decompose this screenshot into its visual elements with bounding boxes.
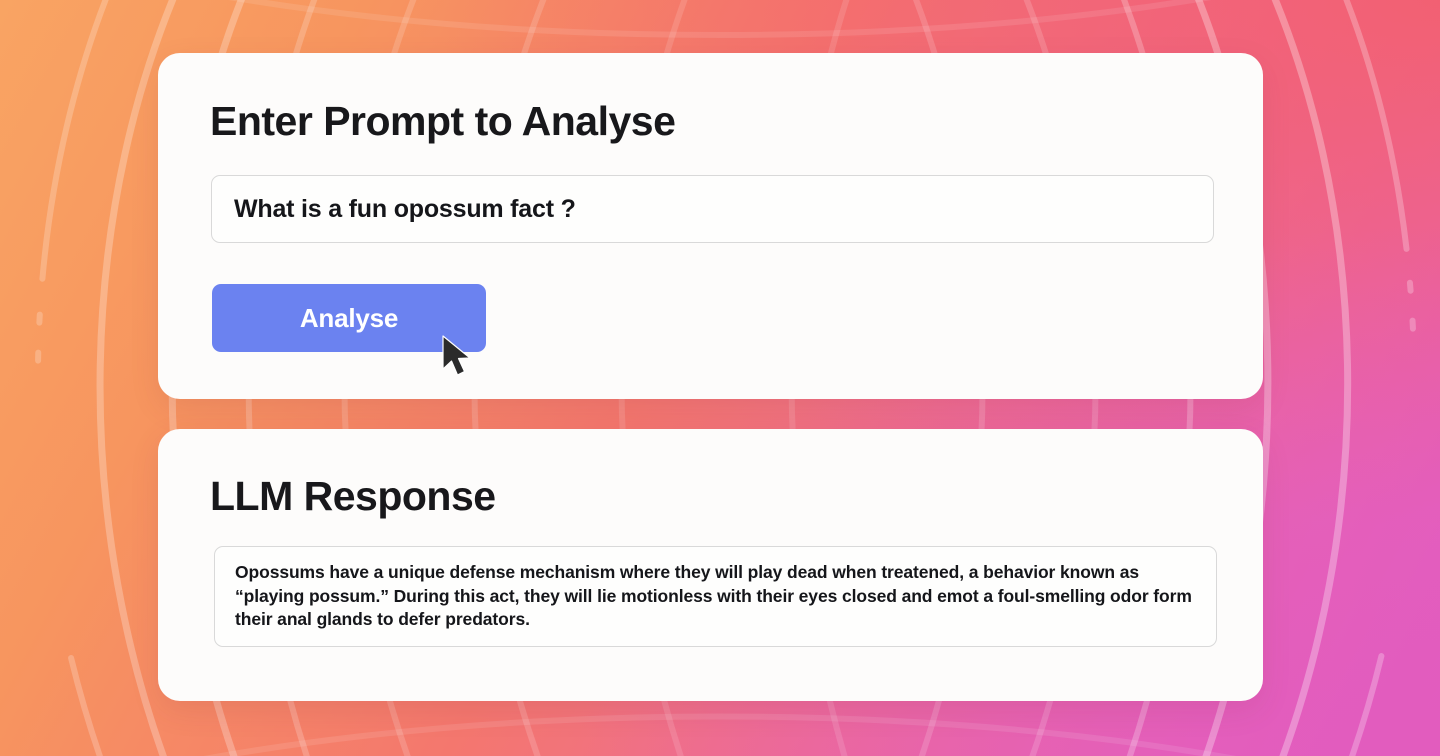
prompt-input[interactable] xyxy=(212,195,1213,224)
page-title: Enter Prompt to Analyse xyxy=(210,98,675,145)
llm-response-text: Opossums have a unique defense mechanism… xyxy=(235,561,1196,632)
llm-response-card: LLM Response Opossums have a unique defe… xyxy=(158,429,1263,701)
analyse-button[interactable]: Analyse xyxy=(212,284,486,352)
prompt-input-container[interactable] xyxy=(211,175,1214,243)
prompt-card: Enter Prompt to Analyse Analyse xyxy=(158,53,1263,399)
llm-response-box[interactable]: Opossums have a unique defense mechanism… xyxy=(214,546,1217,647)
llm-response-title: LLM Response xyxy=(210,473,496,520)
